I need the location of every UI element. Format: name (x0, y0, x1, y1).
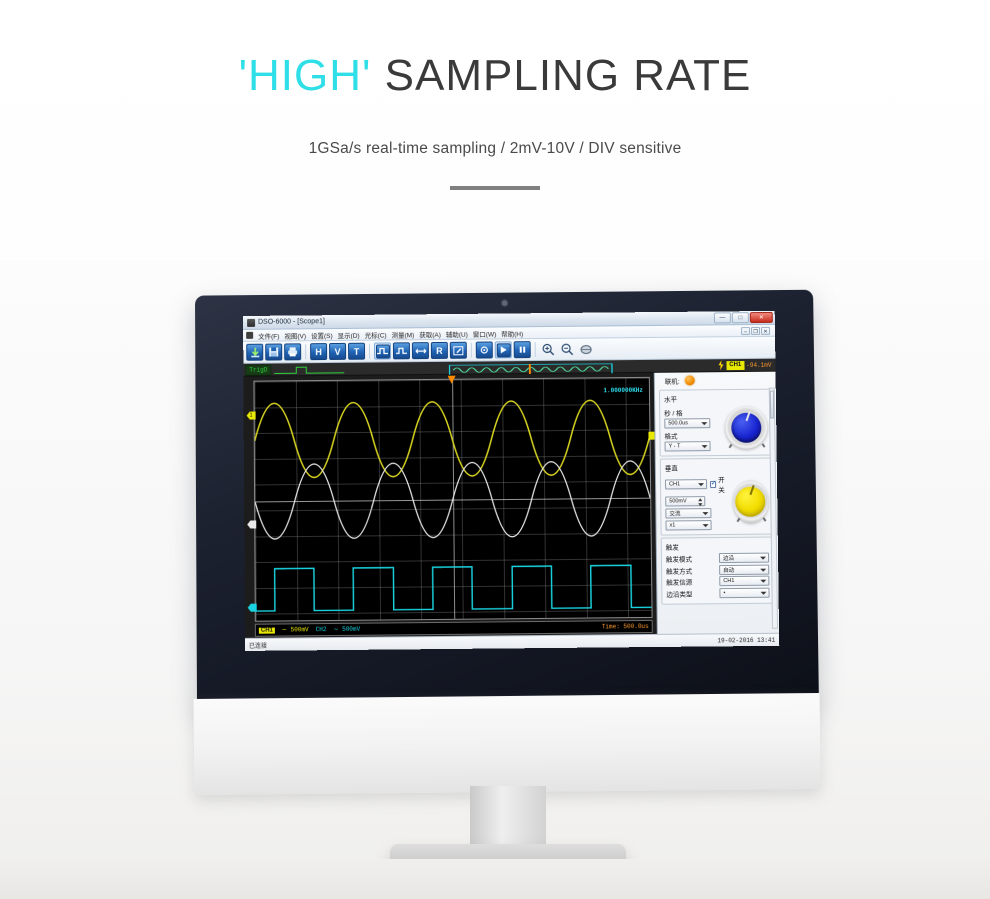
horizontal-position-knob[interactable] (725, 407, 768, 449)
control-panel: 联机: 水平 秒 / 格 500.0us 格式 (654, 372, 779, 634)
frequency-readout: 1.000000KHz (603, 387, 643, 394)
ch1-tag: CH1 (259, 627, 275, 633)
ch1-scale-readout: ∼ 500mV (282, 626, 309, 633)
minimize-button[interactable]: — (714, 312, 731, 323)
menu-item-file[interactable]: 文件(F) (258, 330, 279, 340)
close-button[interactable]: ✕ (750, 312, 773, 323)
coupling-select[interactable]: 交流 (665, 508, 711, 518)
menu-item-measure[interactable]: 测量(M) (392, 329, 415, 339)
vertical-group-title: 垂直 (665, 462, 768, 473)
waveform-traces (254, 378, 651, 621)
volts-div-stepper[interactable]: 500mV (665, 496, 705, 506)
vertical-icon[interactable]: V (329, 343, 346, 360)
ch2-position-marker[interactable] (248, 604, 257, 612)
horizontal-group: 水平 秒 / 格 500.0us 格式 Y - T (659, 389, 773, 457)
vertical-position-knob[interactable] (733, 481, 769, 523)
scope-area: 1 1.000000KHz CH1 ∼ 500mV CH2 ∼ 500mV (243, 373, 656, 638)
trigger-group-title: 触发 (666, 541, 769, 552)
trigger-slope-select[interactable]: • (719, 587, 769, 598)
open-icon[interactable] (246, 344, 263, 361)
menu-item-utility[interactable]: 辅助(U) (446, 328, 468, 338)
window-title: DSO-6000 - [Scope1] (258, 318, 325, 326)
menu-item-acquire[interactable]: 获取(A) (419, 329, 441, 339)
trigger-sweep-select[interactable]: 自动 (719, 564, 769, 575)
hero-section: 'HIGH' SAMPLING RATE 1GSa/s real-time sa… (0, 52, 990, 190)
sec-div-label: 秒 / 格 (664, 407, 722, 418)
menu-item-cursor[interactable]: 光标(C) (365, 329, 387, 339)
trigger-pulse-icon (274, 363, 344, 375)
save-icon[interactable] (265, 344, 282, 361)
trigger-source-select[interactable]: CH1 (719, 576, 769, 587)
toolbar-separator (305, 344, 306, 359)
maximize-button[interactable]: □ (732, 312, 749, 323)
trigger-sweep-row: 触发方式 自动 (666, 564, 769, 575)
datetime-readout: 19-02-2016 13:41 (717, 636, 775, 644)
ch1-position-marker[interactable]: 1 (247, 412, 256, 420)
timebase-readout: Time: 500.0us (602, 623, 649, 630)
trigger-icon[interactable]: T (348, 343, 365, 360)
title-divider (450, 186, 540, 190)
trigger-group: 触发 触发模式 边沿 触发方式 自动 触发信源 (661, 537, 775, 605)
trigger-source-row: 触发信源 CH1 (666, 576, 769, 587)
print-icon[interactable] (284, 343, 301, 360)
desk-scene: DSO-6000 - [Scope1] — □ ✕ 文件(F) 视图(V) 设置… (0, 260, 990, 899)
region-r-icon[interactable] (450, 342, 467, 359)
channel-enable-checkbox[interactable]: 开关 (710, 474, 730, 494)
pause-icon[interactable] (514, 341, 531, 358)
vertical-group: 垂直 CH1 开关 (660, 457, 774, 535)
scope-display[interactable]: 1 1.000000KHz (253, 377, 652, 622)
ch2-scale-readout: ∼ 500mV (333, 626, 360, 633)
online-status: 联机: (659, 374, 772, 388)
trigger-source-label: 触发信源 (666, 576, 692, 586)
horizontal-group-title: 水平 (664, 393, 767, 404)
menu-item-setup[interactable]: 设置(S) (311, 330, 333, 340)
webcam-icon (502, 301, 507, 306)
channel-enable-label: 开关 (718, 474, 730, 494)
online-indicator-icon (685, 375, 695, 385)
panel-scrollbar-thumb[interactable] (770, 391, 774, 419)
play-icon[interactable] (495, 341, 512, 358)
zoom-out-icon[interactable] (559, 341, 576, 358)
mdi-minimize-button[interactable]: – (741, 327, 750, 335)
mdi-close-button[interactable]: ✕ (761, 326, 770, 334)
format-label: 格式 (664, 430, 722, 441)
toolbar-separator (535, 342, 536, 357)
ch2-tag: CH2 (316, 626, 327, 633)
settings-icon[interactable] (476, 341, 493, 358)
app-logo-icon (247, 318, 255, 326)
trigger-coupling-icon (717, 360, 724, 370)
probe-attenuation-select[interactable]: x1 (665, 520, 711, 530)
desk-edge (0, 859, 990, 899)
stepper-arrows-icon[interactable] (697, 498, 703, 506)
page-title-accent: 'HIGH' (239, 51, 372, 100)
menu-item-window[interactable]: 窗口(W) (473, 328, 497, 338)
trigger-level-value: -94.1mV (746, 361, 771, 368)
autoset-icon[interactable] (412, 342, 429, 359)
online-label: 联机: (665, 376, 680, 386)
monitor: DSO-6000 - [Scope1] — □ ✕ 文件(F) 视图(V) 设置… (196, 292, 816, 702)
volts-div-value: 500mV (669, 498, 687, 504)
mdi-window-controls: – ❐ ✕ (741, 326, 772, 334)
toolbar-separator (471, 343, 472, 358)
menu-item-help[interactable]: 帮助(H) (501, 328, 523, 338)
monitor-screen: DSO-6000 - [Scope1] — □ ✕ 文件(F) 视图(V) 设置… (243, 311, 779, 651)
trigger-mode-row: 触发模式 边沿 (666, 553, 769, 564)
trigger-slope-label: 边沿类型 (666, 588, 692, 598)
scope-footer: CH1 ∼ 500mV CH2 ∼ 500mV Time: 500.0us (255, 620, 653, 637)
monitor-chin (194, 693, 821, 795)
mdi-document-icon (246, 332, 253, 339)
vertical-channel-select[interactable]: CH1 (665, 479, 707, 489)
main-body: 1 1.000000KHz CH1 ∼ 500mV CH2 ∼ 500mV (243, 372, 779, 638)
menu-item-display[interactable]: 显示(D) (338, 329, 360, 339)
trigger-mode-select[interactable]: 边沿 (719, 553, 769, 564)
trigger-slope-row: 边沿类型 • (666, 587, 769, 598)
dso-application-window: DSO-6000 - [Scope1] — □ ✕ 文件(F) 视图(V) 设置… (243, 311, 779, 651)
horizontal-icon[interactable]: H (310, 343, 327, 360)
horizontal-body: 秒 / 格 500.0us 格式 Y - T (664, 405, 767, 452)
mdi-restore-button[interactable]: ❐ (751, 326, 760, 334)
window-controls: — □ ✕ (714, 312, 773, 324)
page-root: 'HIGH' SAMPLING RATE 1GSa/s real-time sa… (0, 0, 990, 899)
trigger-channel-badge: CH1 (726, 360, 744, 369)
trigger-level-readout: CH1 -94.1mV (717, 360, 773, 371)
checkbox-box-icon (710, 481, 716, 488)
square-wave-2-icon[interactable] (393, 342, 410, 359)
menu-item-view[interactable]: 视图(V) (284, 330, 306, 340)
page-title-rest: SAMPLING RATE (371, 51, 751, 100)
vertical-body: CH1 开关 500mV (665, 474, 769, 531)
connection-status: 已连接 (249, 640, 267, 649)
run-r-icon[interactable]: R (431, 342, 448, 359)
trigger-status-label: TrigD (245, 364, 271, 375)
zoom-in-icon[interactable] (540, 341, 557, 358)
page-title: 'HIGH' SAMPLING RATE (0, 52, 990, 100)
format-select[interactable]: Y - T (665, 441, 711, 451)
square-wave-1-icon[interactable] (374, 342, 391, 359)
math-position-marker[interactable] (247, 520, 256, 528)
refresh-icon[interactable] (578, 341, 595, 358)
page-subtitle: 1GSa/s real-time sampling / 2mV-10V / DI… (0, 140, 990, 158)
trigger-sweep-label: 触发方式 (666, 565, 692, 575)
sec-div-select[interactable]: 500.0us (664, 418, 710, 428)
trigger-mode-label: 触发模式 (666, 553, 692, 563)
toolbar-separator (369, 344, 370, 359)
